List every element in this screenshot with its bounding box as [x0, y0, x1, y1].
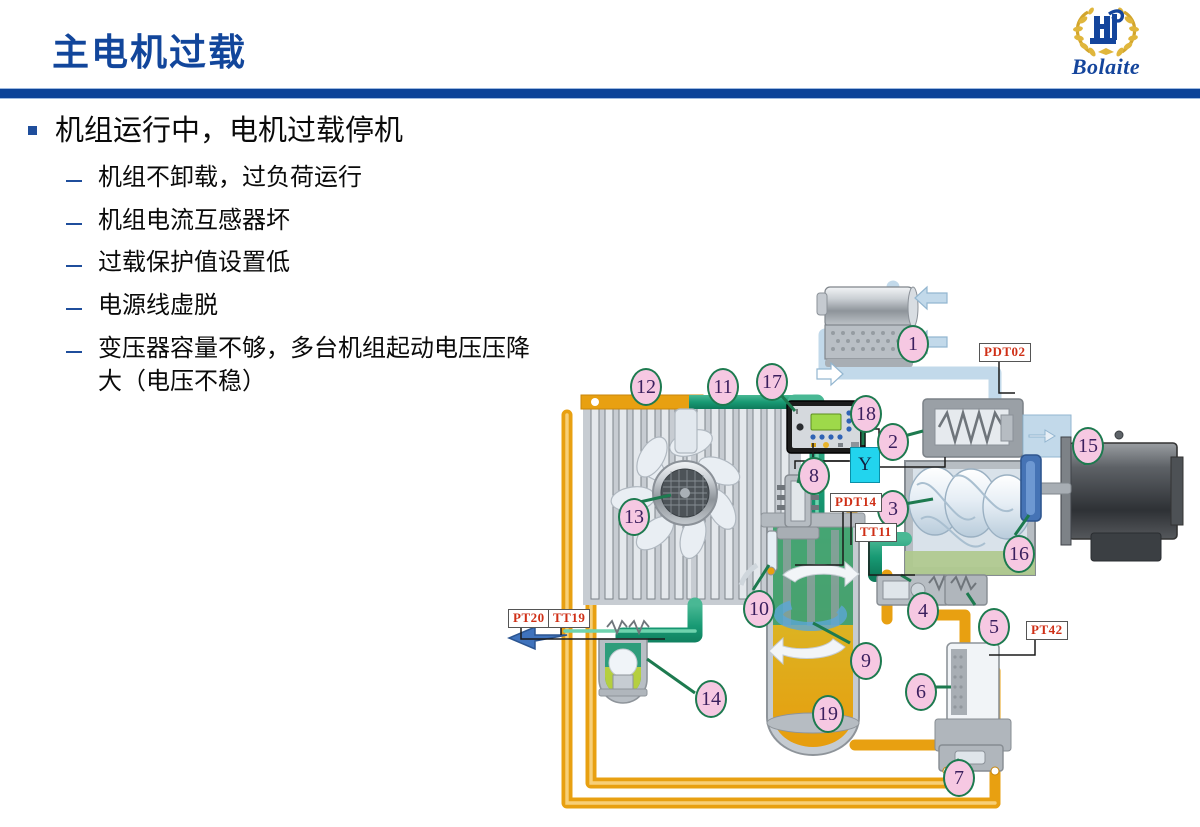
bullet-level2: 电源线虚脱	[18, 289, 538, 323]
sensor-tag-pt42: PT42	[1026, 621, 1068, 640]
callout-10-level-sight-glass[interactable]: 10	[743, 590, 775, 628]
callout-15-main-motor[interactable]: 15	[1072, 427, 1104, 465]
bullet-list: 机组运行中，电机过载停机 机组不卸载，过负荷运行 机组电流互感器坏 过载保护值设…	[18, 112, 538, 408]
sensor-tag-tt11: TT11	[855, 523, 897, 542]
bullet-level1: 机组运行中，电机过载停机	[18, 112, 538, 151]
bullet-level2-text: 变压器容量不够，多台机组起动电压压降大（电压不稳）	[98, 332, 538, 399]
bullet-level2-text: 电源线虚脱	[98, 289, 218, 323]
callout-8-oil-stop-valve[interactable]: 8	[798, 457, 830, 495]
callout-9-separator-element[interactable]: 9	[850, 642, 882, 680]
sensor-tag-pdt14: PDT14	[830, 493, 882, 512]
callout-12-oil-cooler[interactable]: 12	[630, 368, 662, 406]
coupling-unit	[1021, 455, 1041, 521]
bullet-level2-text: 过载保护值设置低	[98, 246, 290, 280]
callout-11-aftercooler[interactable]: 11	[707, 368, 739, 406]
bullet-dash-marker	[66, 223, 82, 225]
bullet-dash-marker	[66, 180, 82, 182]
sensor-tag-pdt02: PDT02	[979, 343, 1031, 362]
bullet-level2-text: 机组不卸载，过负荷运行	[98, 161, 362, 195]
callout-17-controller[interactable]: 17	[756, 363, 788, 401]
callout-7-thermostatic-valve[interactable]: 7	[943, 759, 975, 797]
callout-14-moisture-drain-trap[interactable]: 14	[695, 680, 727, 718]
screw-air-compressor-flow-diagram: 1 2 3 4 5 6 7 8 9 10 11 12 13 14 15 16 1…	[495, 275, 1195, 827]
bullet-dash-marker	[66, 308, 82, 310]
callout-6-oil-filter[interactable]: 6	[905, 673, 937, 711]
brand-logo: Bolaite	[1054, 4, 1158, 84]
header-divider-rule	[0, 88, 1200, 99]
callout-2-intake-valve[interactable]: 2	[877, 423, 909, 461]
logo-wordmark: Bolaite	[1054, 54, 1158, 80]
page-title: 主电机过载	[52, 22, 247, 76]
main-motor-unit	[1039, 431, 1183, 561]
callout-5-check-valve[interactable]: 5	[978, 608, 1010, 646]
bullet-level2: 变压器容量不够，多台机组起动电压压降大（电压不稳）	[18, 332, 538, 399]
slide-root: 主电机过载	[0, 0, 1200, 827]
bullet-level2-text: 机组电流互感器坏	[98, 204, 290, 238]
callout-4-minimum-pressure-valve[interactable]: 4	[907, 592, 939, 630]
callout-18-loading-solenoid[interactable]: 18	[850, 395, 882, 433]
diagram-canvas	[495, 275, 1195, 827]
sensor-tag-tt19: TT19	[548, 609, 590, 628]
bullet-square-marker	[28, 126, 37, 135]
bullet-level1-text: 机组运行中，电机过载停机	[55, 112, 403, 151]
loading-solenoid-valve-y[interactable]: Y	[850, 447, 880, 483]
check-valve	[945, 575, 987, 605]
oil-filter-unit	[935, 643, 1011, 751]
callout-16-coupling[interactable]: 16	[1003, 535, 1035, 573]
bullet-level2: 机组不卸载，过负荷运行	[18, 161, 538, 195]
callout-13-cooling-fan[interactable]: 13	[618, 498, 650, 536]
callout-19-oil-separator-tank[interactable]: 19	[812, 695, 844, 733]
bullet-dash-marker	[66, 351, 82, 353]
bullet-level2: 过载保护值设置低	[18, 246, 538, 280]
callout-1-air-filter[interactable]: 1	[897, 325, 929, 363]
bullet-level2: 机组电流互感器坏	[18, 204, 538, 238]
bolaite-crest-icon	[1068, 4, 1144, 58]
sensor-tag-pt20: PT20	[508, 609, 550, 628]
intake-valve-unit	[923, 399, 1071, 457]
bullet-dash-marker	[66, 265, 82, 267]
